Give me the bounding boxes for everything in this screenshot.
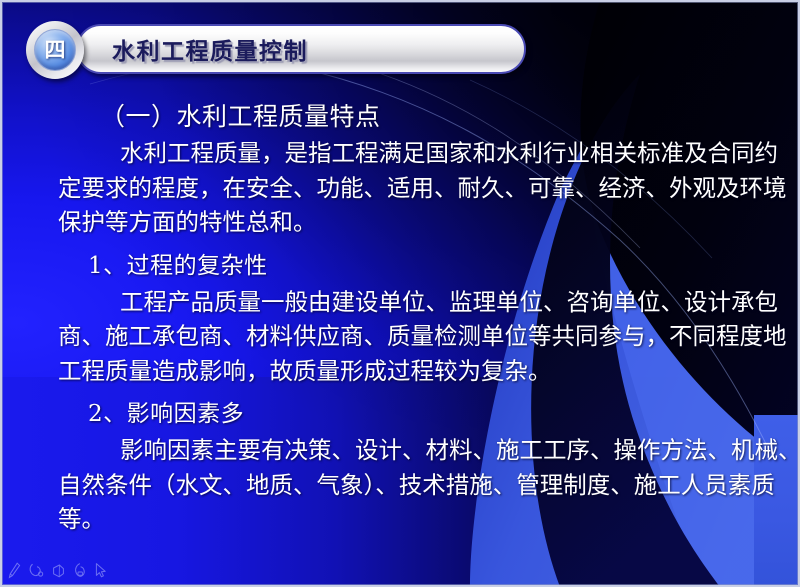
section-number-badge-inner: 四 [34, 29, 76, 71]
slide-body: （一）水利工程质量特点 水利工程质量，是指工程满足国家和水利行业相关标准及合同约… [14, 104, 786, 543]
felt-tip-pen-icon[interactable] [28, 562, 44, 579]
paragraph-1-line-3: 保护等方面的特性总和。 [14, 211, 786, 235]
paragraph-3-line-2: 自然条件（水文、地质、气象）、技术措施、管理制度、施工人员素质 [14, 474, 786, 498]
annotation-toolbar[interactable] [8, 562, 107, 579]
slide-title: 水利工程质量控制 [112, 32, 308, 66]
highlighter-icon[interactable] [51, 563, 66, 579]
section-number-badge: 四 [26, 21, 84, 79]
paragraph-3-line-1: 影响因素主要有决策、设计、材料、施工工序、操作方法、机械、 [14, 439, 786, 463]
arrow-pointer-icon[interactable] [94, 562, 107, 579]
title-pill: 水利工程质量控制 [76, 24, 526, 74]
paragraph-1-line-1: 水利工程质量，是指工程满足国家和水利行业相关标准及合同约 [14, 142, 786, 166]
paragraph-3-line-3: 等。 [14, 508, 786, 532]
list-item-1-label: 1、过程的复杂性 [14, 246, 786, 280]
section-number-text: 四 [45, 40, 66, 61]
list-item-2-label: 2、影响因素多 [14, 394, 786, 428]
pen-icon[interactable] [8, 562, 21, 579]
slide-header: 水利工程质量控制 四 [26, 21, 526, 79]
paragraph-2-line-3: 工程质量造成影响，故质量形成过程较为复杂。 [14, 360, 786, 384]
paragraph-2-line-2: 商、施工承包商、材料供应商、质量检测单位等共同参与，不同程度地 [14, 325, 786, 349]
eraser-icon[interactable] [73, 562, 87, 579]
paragraph-1-line-2: 定要求的程度，在安全、功能、适用、耐久、可靠、经济、外观及环境 [14, 177, 786, 201]
presentation-slide: 水利工程质量控制 四 （一）水利工程质量特点 水利工程质量，是指工程满足国家和水… [0, 0, 800, 587]
paragraph-2-line-1: 工程产品质量一般由建设单位、监理单位、咨询单位、设计承包 [14, 291, 786, 315]
content-heading: （一）水利工程质量特点 [14, 104, 786, 129]
